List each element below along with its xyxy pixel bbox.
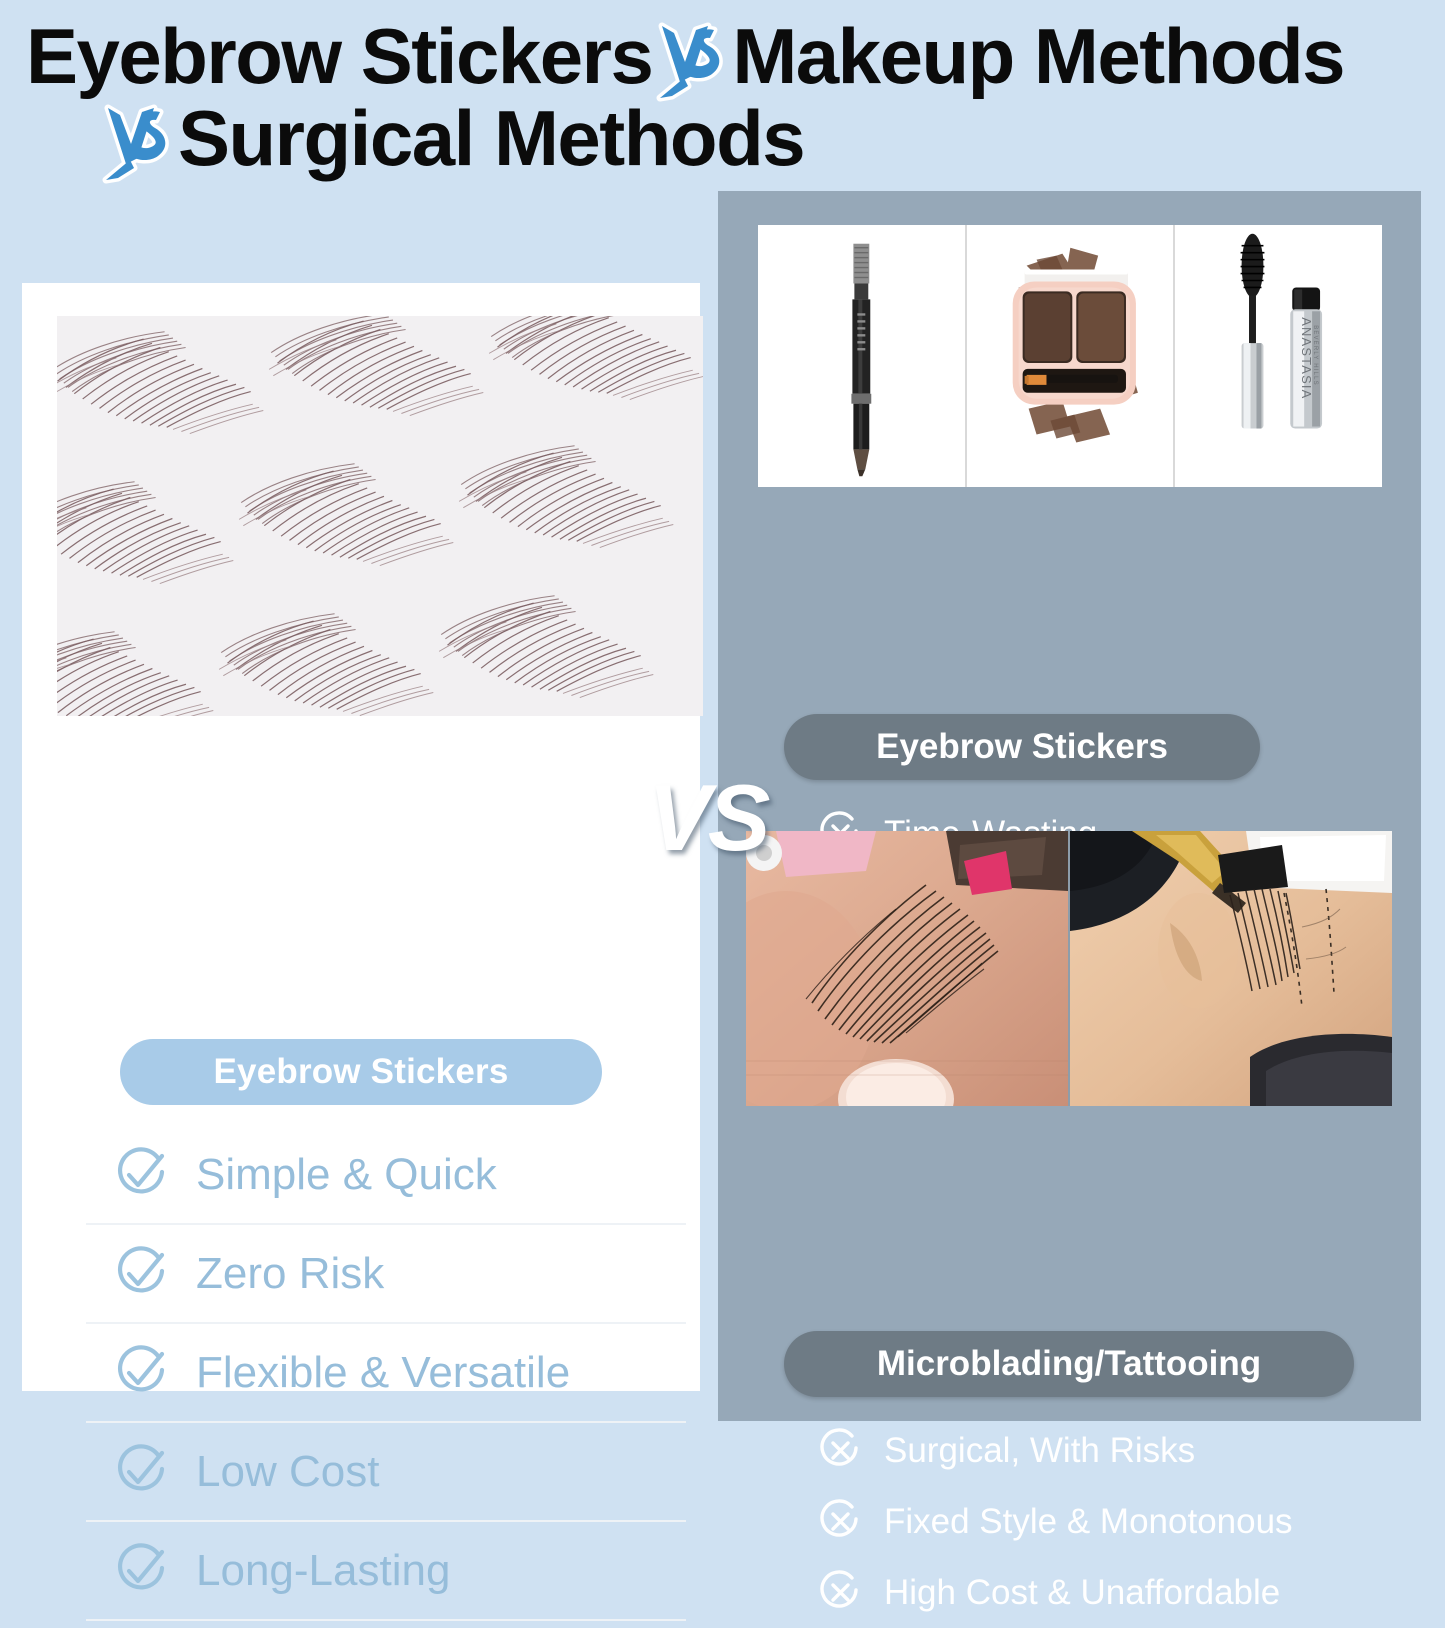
vs-logo-icon bbox=[654, 16, 730, 102]
list-item-label: Surgical, With Risks bbox=[884, 1431, 1195, 1471]
svg-text:BEVERLY HILLS: BEVERLY HILLS bbox=[1312, 325, 1318, 386]
list-item-label: Low Cost bbox=[196, 1447, 379, 1497]
x-circle-icon bbox=[818, 1428, 863, 1473]
left-pill-label: Eyebrow Stickers bbox=[213, 1052, 508, 1092]
procedure-photo-strip bbox=[746, 831, 1392, 1106]
brow-gel-tube-image: ANASTASIA BEVERLY HILLS bbox=[1175, 225, 1382, 487]
svg-text:ANASTASIA: ANASTASIA bbox=[1300, 317, 1315, 399]
list-item[interactable]: High Cost & Unaffordable bbox=[818, 1557, 1438, 1628]
list-item[interactable]: Low Cost bbox=[86, 1423, 686, 1522]
tattooing-procedure-photo bbox=[1070, 831, 1392, 1106]
list-item[interactable]: Zero Risk bbox=[86, 1225, 686, 1324]
product-strip: ANASTASIA BEVERLY HILLS bbox=[758, 225, 1382, 487]
makeup-and-surgical-panel: ANASTASIA BEVERLY HILLS Eyebrow Stickers… bbox=[718, 191, 1421, 1421]
list-item[interactable]: Surgical, With Risks bbox=[818, 1415, 1438, 1486]
list-item[interactable]: Flexible & Versatile bbox=[86, 1324, 686, 1423]
microblading-procedure-photo bbox=[746, 831, 1070, 1106]
surgical-cons-list: Surgical, With Risks Fixed Style & Monot… bbox=[818, 1415, 1438, 1628]
list-item-label: Zero Risk bbox=[196, 1249, 384, 1299]
eyebrow-stickers-card: Eyebrow Stickers Simple & Quick Zero Ris… bbox=[22, 283, 700, 1391]
center-versus-label: VS bbox=[648, 768, 798, 870]
page-title: Eyebrow Stickers Makeup Methods bbox=[26, 14, 1416, 182]
title-text-part-2: Makeup Methods bbox=[732, 20, 1344, 93]
eyebrow-sticker-sheet-image bbox=[57, 316, 703, 716]
pros-list: Simple & Quick Zero Risk Flexible & Vers… bbox=[86, 1126, 686, 1621]
check-circle-icon bbox=[112, 1542, 170, 1600]
check-circle-icon bbox=[112, 1146, 170, 1204]
check-circle-icon bbox=[112, 1245, 170, 1303]
list-item-label: Flexible & Versatile bbox=[196, 1348, 570, 1398]
list-item-label: Simple & Quick bbox=[196, 1150, 497, 1200]
brow-pencil-image bbox=[758, 225, 967, 487]
title-text-part-1: Eyebrow Stickers bbox=[26, 20, 652, 93]
brow-powder-palette-image bbox=[967, 225, 1176, 487]
makeup-pill-label: Eyebrow Stickers bbox=[876, 727, 1168, 767]
list-item[interactable]: Simple & Quick bbox=[86, 1126, 686, 1225]
title-line-1: Eyebrow Stickers Makeup Methods bbox=[26, 14, 1416, 100]
surgical-section-pill: Microblading/Tattooing bbox=[784, 1331, 1354, 1397]
check-circle-icon bbox=[112, 1443, 170, 1501]
x-circle-icon bbox=[818, 1570, 863, 1615]
x-circle-icon bbox=[818, 1499, 863, 1544]
vs-logo-icon-2 bbox=[100, 98, 176, 184]
left-section-pill: Eyebrow Stickers bbox=[120, 1039, 602, 1105]
list-item-label: Long-Lasting bbox=[196, 1546, 450, 1596]
list-item-label: Fixed Style & Monotonous bbox=[884, 1502, 1293, 1542]
title-line-2: Surgical Methods bbox=[98, 96, 1416, 182]
list-item-label: High Cost & Unaffordable bbox=[884, 1573, 1280, 1613]
list-item[interactable]: Fixed Style & Monotonous bbox=[818, 1486, 1438, 1557]
title-text-line-2: Surgical Methods bbox=[178, 102, 804, 175]
makeup-section-pill: Eyebrow Stickers bbox=[784, 714, 1260, 780]
check-circle-icon bbox=[112, 1344, 170, 1402]
list-item[interactable]: Long-Lasting bbox=[86, 1522, 686, 1621]
surgical-pill-label: Microblading/Tattooing bbox=[877, 1344, 1261, 1384]
